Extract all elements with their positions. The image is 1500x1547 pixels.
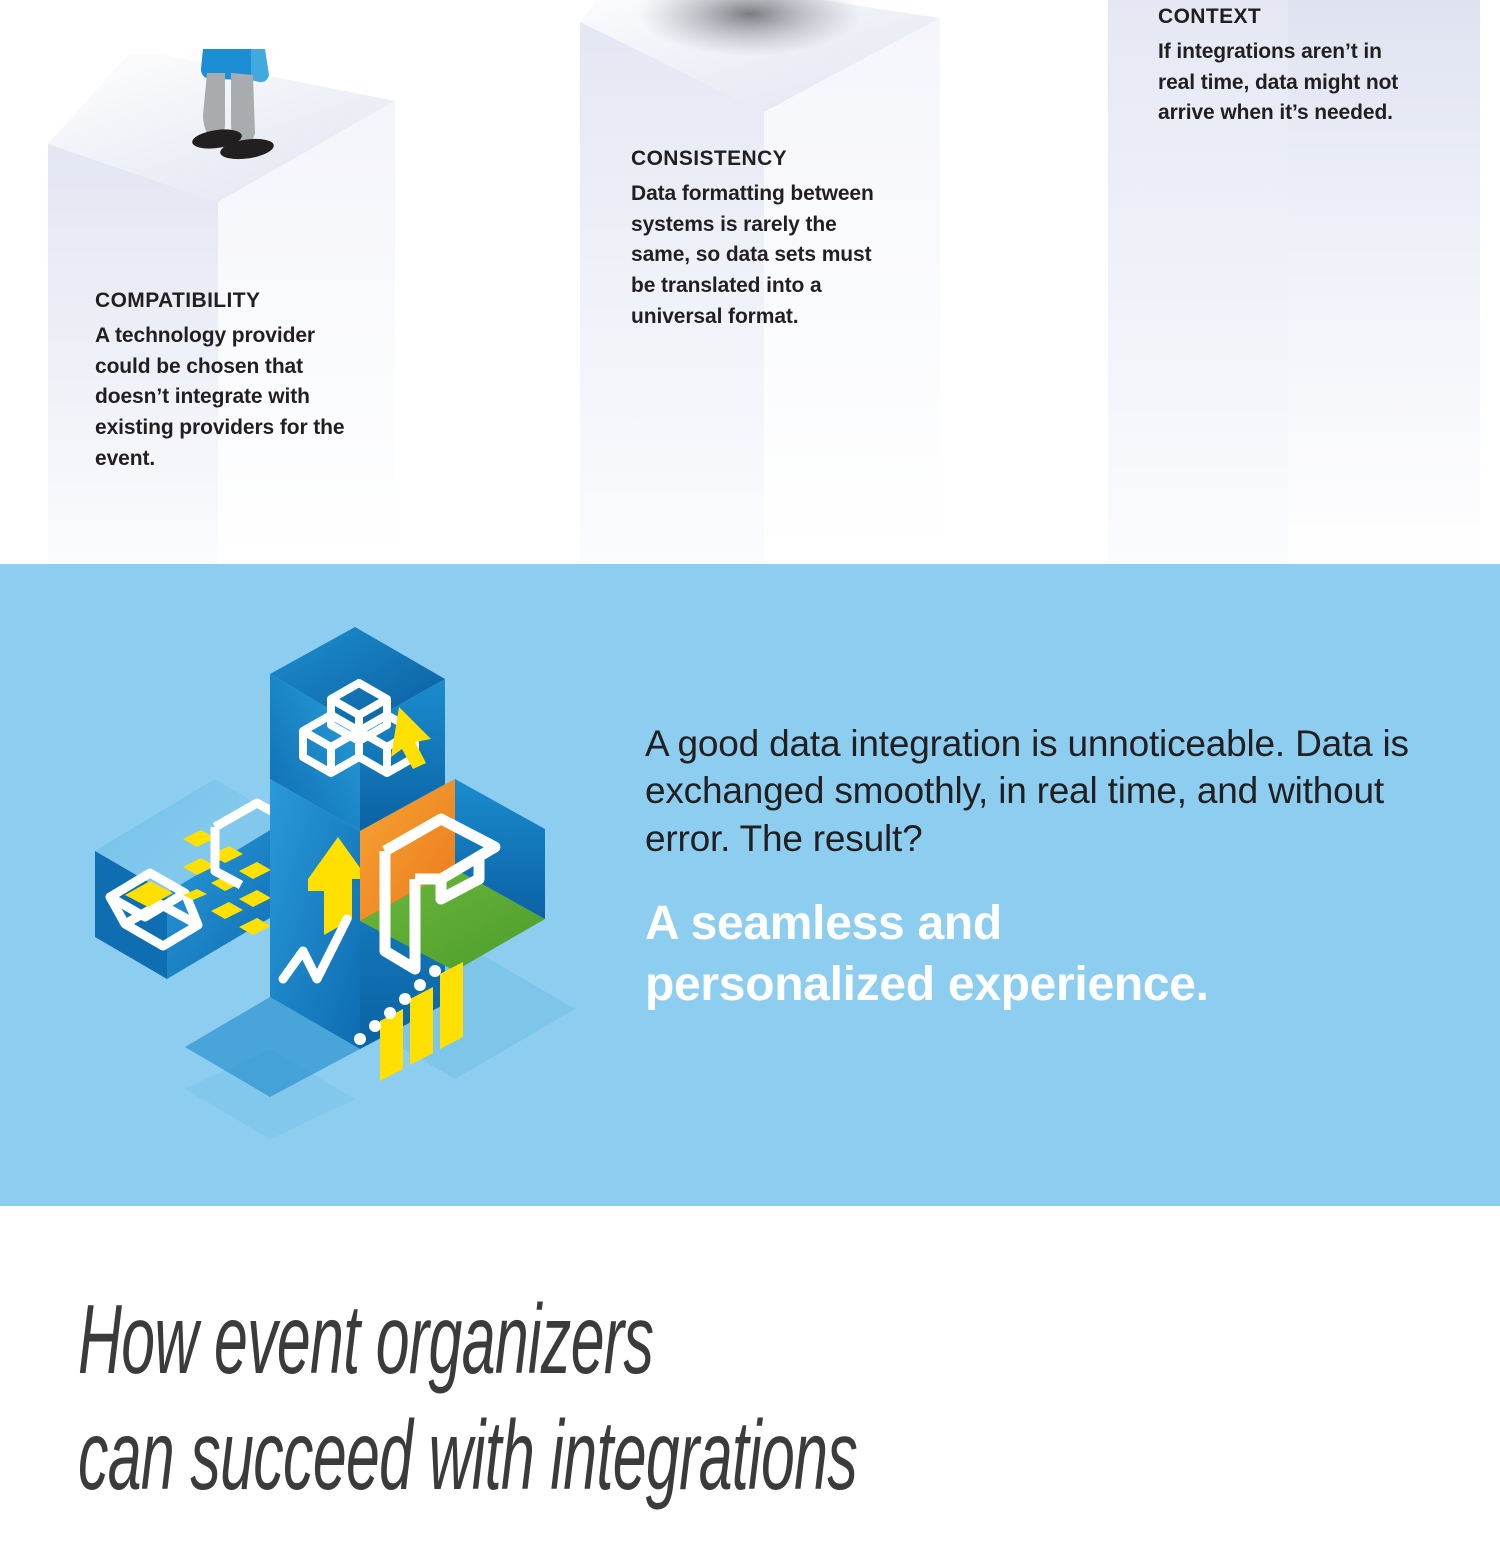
pillar-context: CONTEXT If integrations aren’t in real t… <box>1108 0 1483 564</box>
pillar-context-text: CONTEXT If integrations aren’t in real t… <box>1158 6 1418 129</box>
headline-line-1: How event organizers <box>78 1282 909 1398</box>
pillar-context-body: If integrations aren’t in real time, dat… <box>1158 37 1418 129</box>
challenges-pillars-section: COMPATIBILITY A technology provider coul… <box>0 0 1500 564</box>
person-legs-illustration <box>165 49 305 189</box>
pillar-context-title: CONTEXT <box>1158 6 1418 27</box>
footer-section: How event organizers can succeed with in… <box>0 1206 1500 1547</box>
pillar-consistency: CONSISTENCY Data formatting between syst… <box>578 0 946 564</box>
pillar-compatibility-title: COMPATIBILITY <box>95 290 345 311</box>
pillar-compatibility-text: COMPATIBILITY A technology provider coul… <box>95 290 345 474</box>
band-lead-paragraph: A good data integration is unnoticeable.… <box>645 720 1435 862</box>
pillar-compatibility: COMPATIBILITY A technology provider coul… <box>40 54 400 564</box>
band-copy: A good data integration is unnoticeable.… <box>645 720 1435 1015</box>
band-emphasis: A seamless and personalized experience. <box>645 894 1435 1015</box>
headline-line-2: can succeed with integrations <box>78 1398 909 1514</box>
pillar-compatibility-body: A technology provider could be chosen th… <box>95 321 345 474</box>
isometric-integration-illustration <box>55 579 615 1139</box>
good-integration-band: A good data integration is unnoticeable.… <box>0 564 1500 1206</box>
band-emphasis-line-2: personalized experience. <box>645 955 1435 1015</box>
page-title: How event organizers can succeed with in… <box>78 1282 909 1513</box>
pillar-consistency-title: CONSISTENCY <box>631 148 896 169</box>
pillar-consistency-text: CONSISTENCY Data formatting between syst… <box>631 148 896 332</box>
pillar-consistency-body: Data formatting between systems is rarel… <box>631 179 896 332</box>
band-emphasis-line-1: A seamless and <box>645 894 1435 954</box>
